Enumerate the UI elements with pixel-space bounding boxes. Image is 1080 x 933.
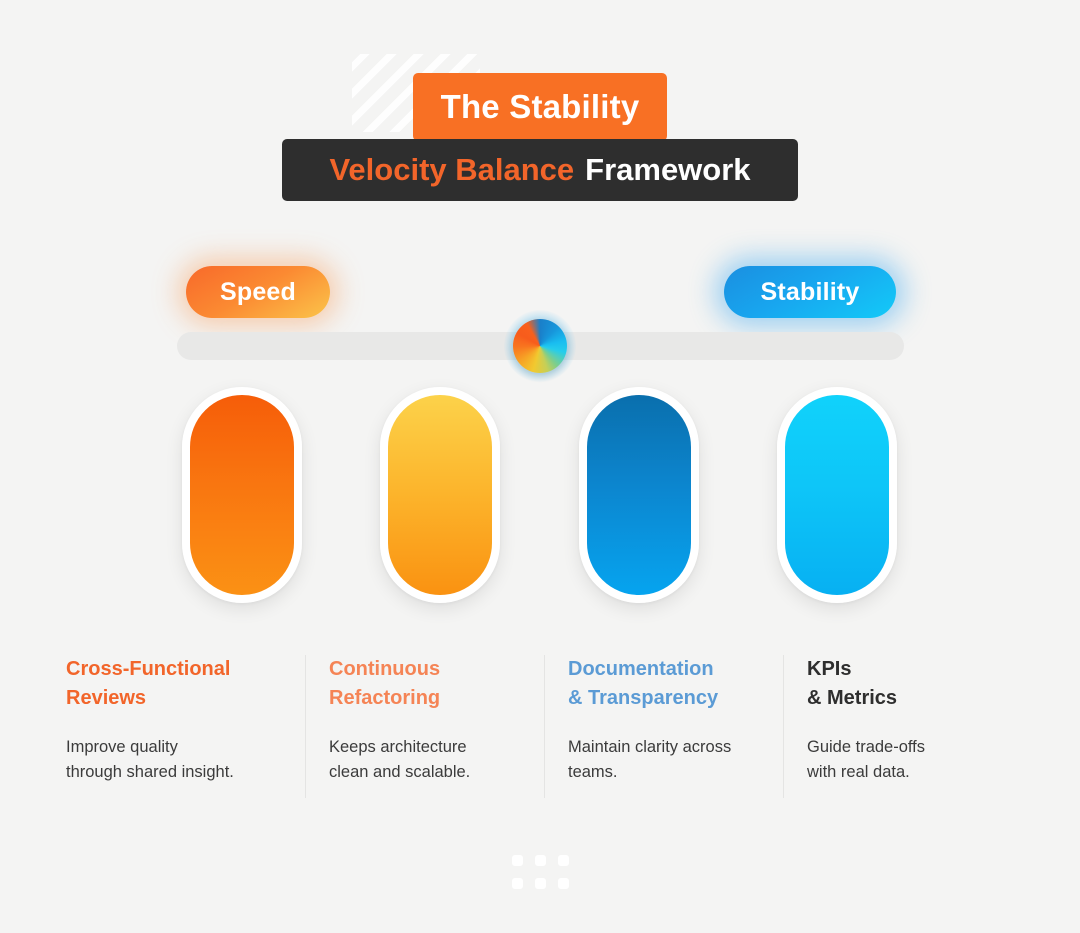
dot (512, 855, 523, 866)
slider-label-stability-text: Stability (760, 278, 859, 307)
dot (535, 855, 546, 866)
column-title: Documentation & Transparency (568, 655, 755, 713)
capsule-yellow (380, 387, 500, 603)
column-kpis-metrics: KPIs & Metrics Guide trade-offs with rea… (783, 655, 1022, 800)
capsule-cyan (777, 387, 897, 603)
slider-label-stability[interactable]: Stability (724, 266, 896, 318)
column-title: Continuous Refactoring (329, 655, 516, 713)
column-title: KPIs & Metrics (807, 655, 994, 713)
dot (558, 878, 569, 889)
title-banner-secondary: Velocity Balance Framework (282, 139, 798, 201)
slider-knob-handle[interactable] (513, 319, 567, 373)
column-documentation-transparency: Documentation & Transparency Maintain cl… (544, 655, 783, 800)
title-line-1: The Stability (441, 88, 640, 126)
infographic-canvas: The Stability Velocity Balance Framework… (0, 0, 1080, 933)
column-cross-functional-reviews: Cross-Functional Reviews Improve quality… (66, 655, 305, 800)
columns-container: Cross-Functional Reviews Improve quality… (66, 655, 1022, 800)
column-body: Guide trade-offs with real data. (807, 735, 994, 785)
slider-label-speed[interactable]: Speed (186, 266, 330, 318)
column-title: Cross-Functional Reviews (66, 655, 277, 713)
column-body: Keeps architecture clean and scalable. (329, 735, 516, 785)
title-banner-primary: The Stability (413, 73, 667, 141)
dot (535, 878, 546, 889)
slider-label-speed-text: Speed (220, 278, 296, 307)
title-line-2-accent: Velocity Balance (329, 152, 574, 188)
column-body: Maintain clarity across teams. (568, 735, 755, 785)
footer-dots-decoration (512, 855, 569, 885)
dot (512, 878, 523, 889)
column-continuous-refactoring: Continuous Refactoring Keeps architectur… (305, 655, 544, 800)
capsule-blue (579, 387, 699, 603)
dot (558, 855, 569, 866)
title-line-2-plain: Framework (585, 152, 750, 188)
column-body: Improve quality through shared insight. (66, 735, 277, 785)
capsule-orange (182, 387, 302, 603)
